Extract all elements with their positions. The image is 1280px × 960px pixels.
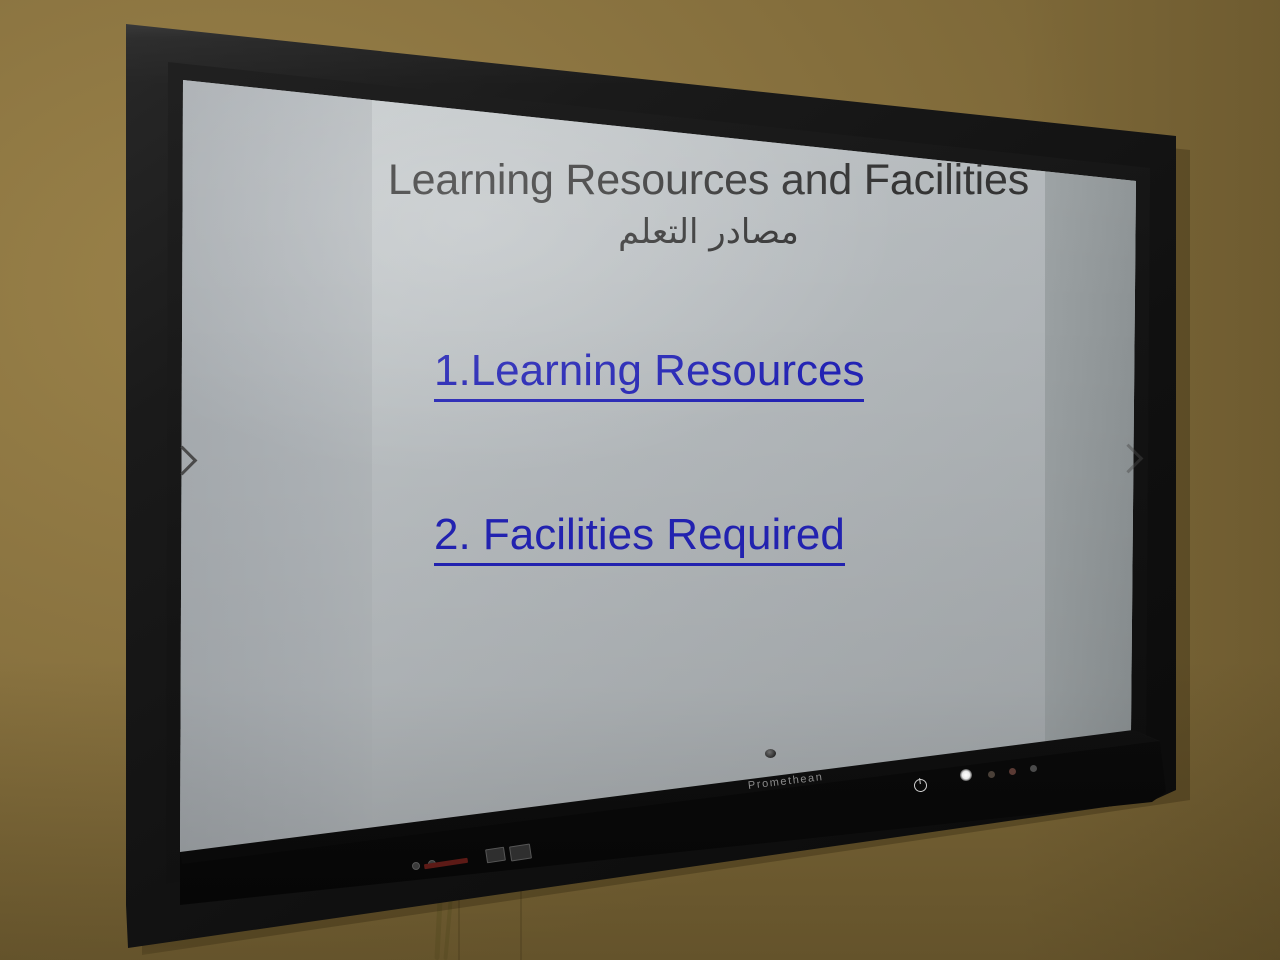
slide-link-item[interactable]: 1.Learning Resources [434, 346, 864, 402]
slide-title: Learning Resources and Facilities [372, 156, 1045, 205]
slide-subtitle-arabic: مصادر التعلم [372, 212, 1045, 252]
usb-port[interactable] [509, 844, 532, 862]
presentation-slide: Learning Resources and Facilities مصادر … [372, 78, 1045, 858]
status-led [960, 769, 972, 781]
sensor-icon [765, 749, 776, 758]
slide-link-label[interactable]: 1.Learning Resources [434, 346, 864, 402]
indicator-led [988, 771, 995, 778]
slide-link-label[interactable]: 2. Facilities Required [434, 510, 845, 566]
interactive-flat-panel[interactable]: Learning Resources and Facilities مصادر … [0, 0, 1280, 960]
indicator-led [1009, 768, 1016, 775]
letterbox-band-left [180, 78, 372, 858]
usb-port[interactable] [485, 847, 506, 864]
audio-port[interactable] [412, 862, 420, 870]
photo-scene: سبحان الله Learning Resources and Facili… [0, 0, 1280, 960]
indicator-led [1030, 765, 1037, 772]
screen-content: Learning Resources and Facilities مصادر … [180, 78, 1140, 858]
slide-link-item[interactable]: 2. Facilities Required [434, 510, 845, 566]
